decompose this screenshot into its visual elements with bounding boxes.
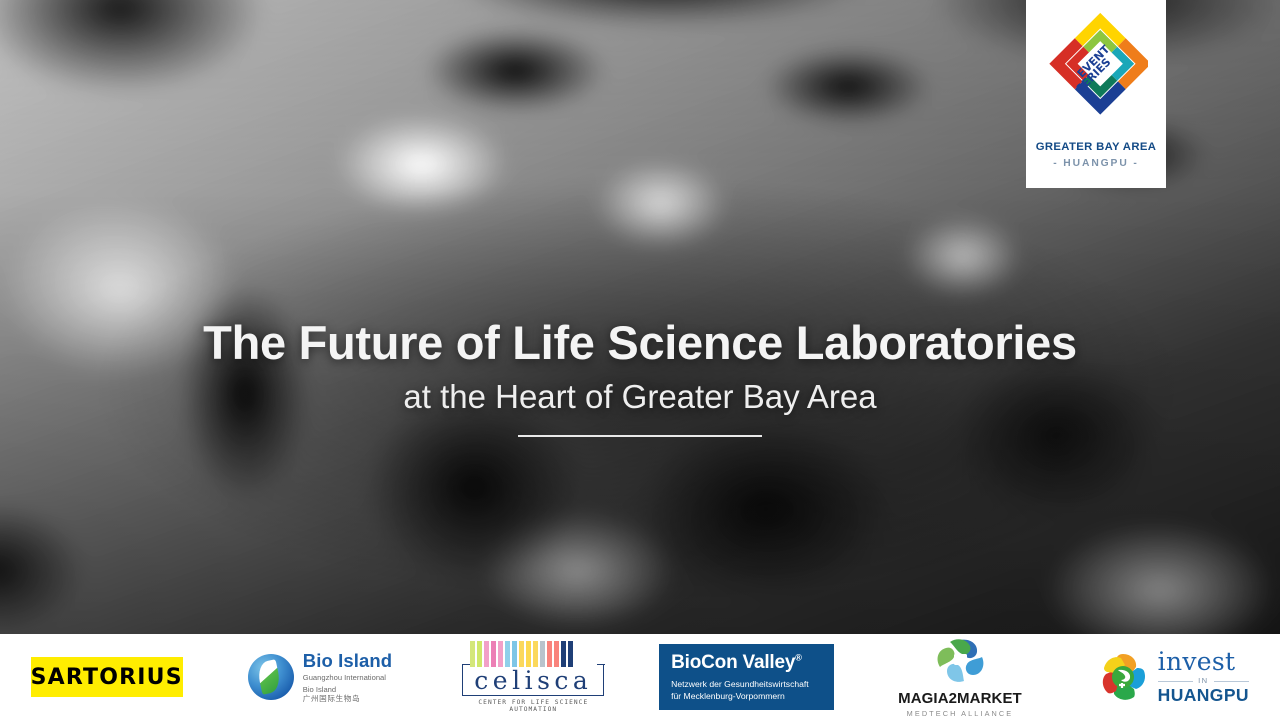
celisca-bar-3	[491, 641, 496, 667]
celisca-color-bars-icon	[462, 641, 604, 667]
celisca-wordmark: celisca	[469, 668, 597, 693]
rule-right	[1214, 681, 1249, 682]
event-series-logo-card: EVENT SERIES GREATER BAY AREA - HUANGPU …	[1026, 0, 1166, 188]
celisca-bar-4	[498, 641, 503, 667]
event-series-emblem-icon: EVENT SERIES	[1044, 8, 1148, 130]
biocon-valley-wordmark: BioCon Valley®	[671, 653, 822, 672]
bio-island-globe-leaf-icon	[248, 654, 294, 700]
magia2market-pinwheel-icon	[934, 637, 986, 683]
celisca-bar-14	[568, 641, 573, 667]
celisca-bar-12	[554, 641, 559, 667]
bio-island-subline-1: Guangzhou International	[303, 673, 392, 683]
event-logo-district: - HUANGPU -	[1026, 158, 1166, 169]
slide-subtitle: at the Heart of Greater Bay Area	[0, 379, 1280, 415]
sartorius-logo: SARTORIUS	[31, 657, 183, 697]
invest-wordmark: invest	[1158, 649, 1249, 674]
celisca-frame: celisca	[462, 665, 604, 696]
partner-logo-invest-in-huangpu[interactable]: invest IN HUANGPU	[1067, 634, 1280, 720]
celisca-bar-9	[533, 641, 538, 667]
celisca-bar-1	[477, 641, 482, 667]
celisca-bar-0	[470, 641, 475, 667]
title-block: The Future of Life Science Laboratories …	[0, 318, 1280, 437]
presentation-slide: The Future of Life Science Laboratories …	[0, 0, 1280, 720]
celisca-bar-7	[519, 641, 524, 667]
partner-logo-celisca[interactable]: celisca CENTER FOR LIFE SCIENCE AUTOMATI…	[427, 634, 640, 720]
biocon-valley-name: BioCon Valley	[671, 652, 795, 673]
celisca-bar-10	[540, 641, 545, 667]
biocon-valley-logo: BioCon Valley® Netzwerk der Gesundheitsw…	[659, 644, 834, 710]
celisca-tagline: CENTER FOR LIFE SCIENCE AUTOMATION	[462, 699, 604, 713]
biocon-valley-subline-1: Netzwerk der Gesundheitswirtschaft	[671, 679, 822, 690]
title-divider	[518, 435, 762, 437]
magia2market-tagline: MEDTECH ALLIANCE	[898, 709, 1022, 718]
magia2market-wordmark: MAGIA2MARKET	[898, 691, 1022, 706]
celisca-bar-13	[561, 641, 566, 667]
sartorius-wordmark: SARTORIUS	[31, 665, 183, 690]
invest-huangpu-flower-icon	[1098, 652, 1148, 702]
bio-island-subline-chinese: 广州国际生物岛	[303, 695, 392, 703]
partner-logo-biocon-valley[interactable]: BioCon Valley® Netzwerk der Gesundheitsw…	[640, 634, 853, 720]
event-logo-region: GREATER BAY AREA	[1026, 141, 1166, 153]
invest-huangpu-logo: invest IN HUANGPU	[1098, 649, 1249, 704]
partner-logo-sartorius[interactable]: SARTORIUS	[0, 634, 213, 720]
magia2market-logo: MAGIA2MARKET MEDTECH ALLIANCE	[898, 637, 1022, 718]
celisca-bar-11	[547, 641, 552, 667]
bio-island-logo: Bio Island Guangzhou International Bio I…	[248, 651, 392, 704]
partner-logo-bar: SARTORIUS Bio Island Guangzhou Internati…	[0, 634, 1280, 720]
celisca-bar-5	[505, 641, 510, 667]
rule-left	[1158, 681, 1193, 682]
celisca-bar-2	[484, 641, 489, 667]
celisca-logo: celisca CENTER FOR LIFE SCIENCE AUTOMATI…	[462, 641, 604, 713]
slide-title: The Future of Life Science Laboratories	[0, 318, 1280, 368]
invest-city: HUANGPU	[1158, 687, 1249, 705]
celisca-bar-8	[526, 641, 531, 667]
invest-connector-row: IN	[1158, 677, 1249, 685]
partner-logo-magia2market[interactable]: MAGIA2MARKET MEDTECH ALLIANCE	[853, 634, 1066, 720]
registered-trademark-icon: ®	[795, 653, 801, 663]
biocon-valley-subline-2: für Mecklenburg-Vorpommern	[671, 691, 822, 702]
partner-logo-bio-island[interactable]: Bio Island Guangzhou International Bio I…	[213, 634, 426, 720]
bio-island-wordmark: Bio Island	[303, 651, 392, 671]
celisca-bar-6	[512, 641, 517, 667]
invest-connector: IN	[1198, 677, 1208, 685]
leaf-icon	[256, 659, 282, 694]
